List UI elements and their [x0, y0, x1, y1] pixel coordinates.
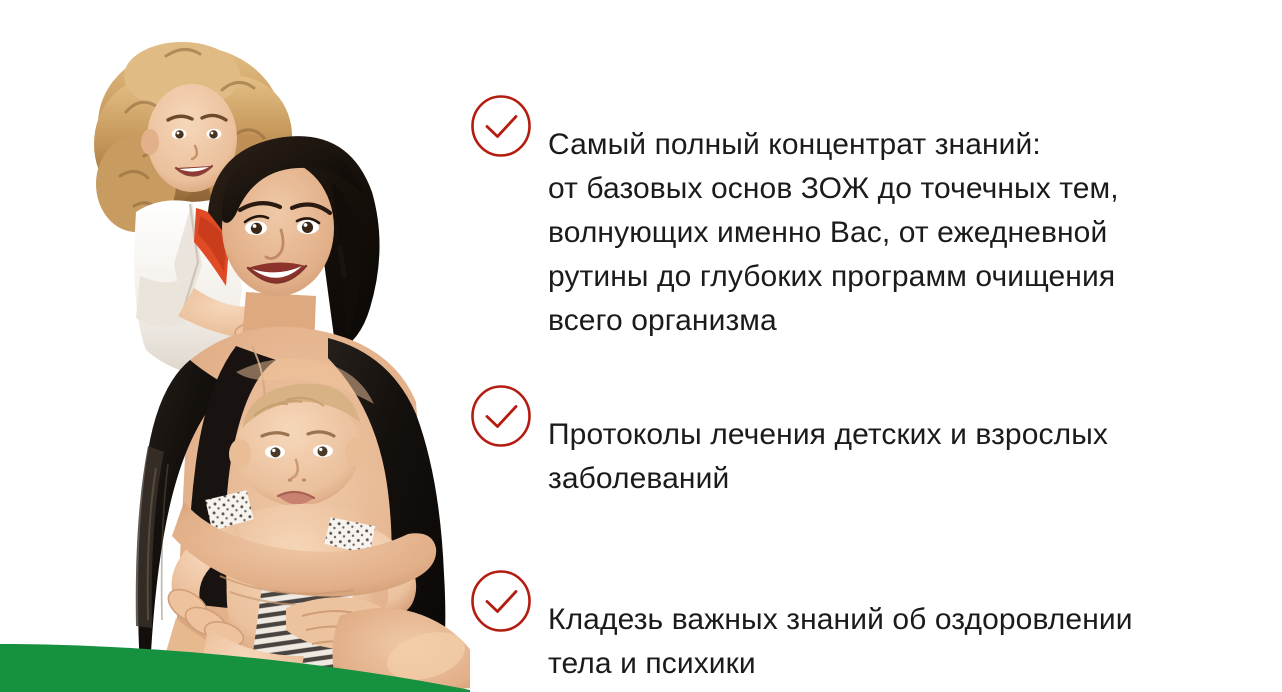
benefits-list: Самый полный концентрат знаний: от базов… — [470, 0, 1282, 692]
benefit-item: Самый полный концентрат знаний: от базов… — [470, 92, 1119, 373]
benefit-item: Протоколы лечения детских и взрослых заб… — [470, 382, 1108, 531]
benefits-slide: Самый полный концентрат знаний: от базов… — [0, 0, 1282, 692]
benefit-text: Самый полный концентрат знаний: от базов… — [548, 122, 1119, 343]
benefit-item: Кладезь важных знаний об оздоровлении те… — [470, 567, 1133, 692]
check-circle-icon — [470, 569, 532, 633]
family-photo — [40, 16, 470, 692]
check-circle-icon — [470, 94, 532, 158]
benefit-text: Кладезь важных знаний об оздоровлении те… — [548, 597, 1133, 686]
benefit-text: Протоколы лечения детских и взрослых заб… — [548, 412, 1108, 501]
check-circle-icon — [470, 384, 532, 448]
photo-column — [0, 0, 470, 692]
